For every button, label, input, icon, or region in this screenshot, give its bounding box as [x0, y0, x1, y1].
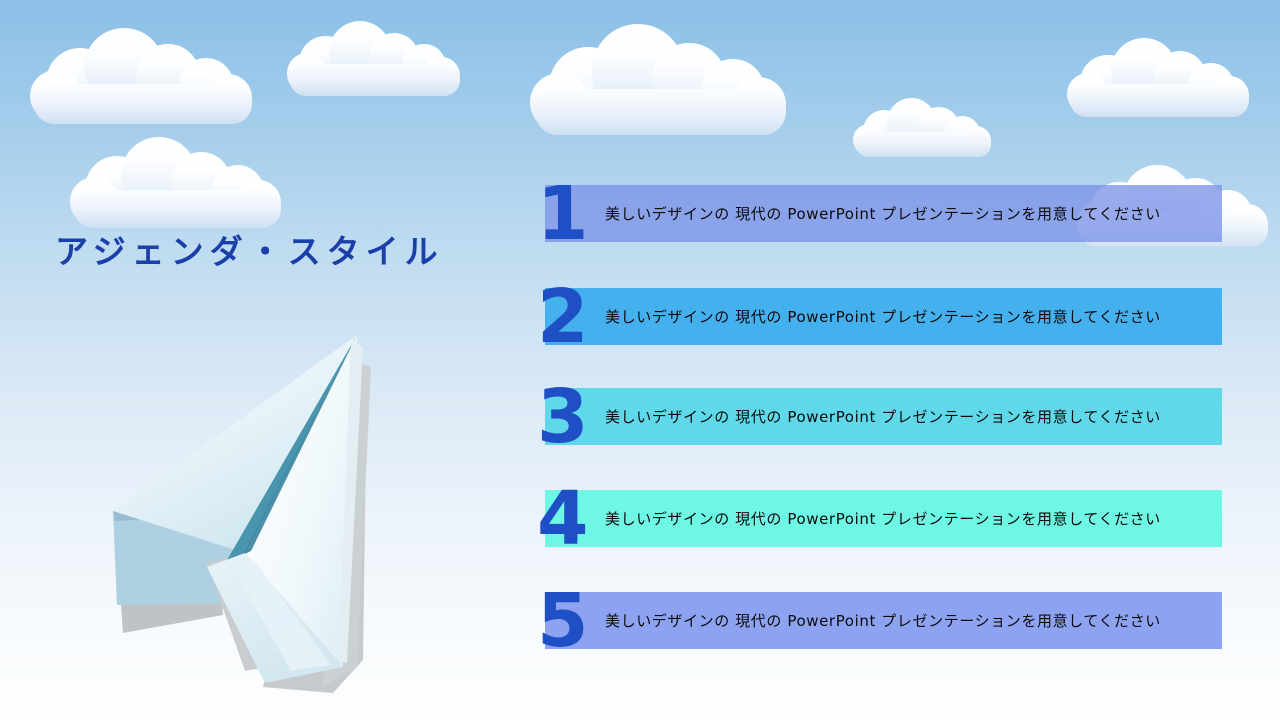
- agenda-item-number: 5: [537, 584, 587, 658]
- agenda-item-text: 美しいデザインの 現代の PowerPoint プレゼンテーションを用意してくだ…: [605, 490, 1161, 547]
- agenda-item-number: 1: [537, 177, 587, 251]
- agenda-item-text: 美しいデザインの 現代の PowerPoint プレゼンテーションを用意してくだ…: [605, 288, 1161, 345]
- agenda-item-number: 3: [537, 380, 587, 454]
- agenda-item-3[interactable]: 3美しいデザインの 現代の PowerPoint プレゼンテーションを用意してく…: [545, 388, 1222, 445]
- agenda-item-number: 2: [537, 280, 587, 354]
- agenda-item-2[interactable]: 2美しいデザインの 現代の PowerPoint プレゼンテーションを用意してく…: [545, 288, 1222, 345]
- agenda-item-5[interactable]: 5美しいデザインの 現代の PowerPoint プレゼンテーションを用意してく…: [545, 592, 1222, 649]
- agenda-item-text: 美しいデザインの 現代の PowerPoint プレゼンテーションを用意してくだ…: [605, 185, 1161, 242]
- agenda-item-text: 美しいデザインの 現代の PowerPoint プレゼンテーションを用意してくだ…: [605, 592, 1161, 649]
- agenda-item-4[interactable]: 4美しいデザインの 現代の PowerPoint プレゼンテーションを用意してく…: [545, 490, 1222, 547]
- agenda-item-number: 4: [537, 482, 587, 556]
- slide-canvas: アジェンダ・スタイル: [0, 0, 1280, 720]
- agenda-list: 1美しいデザインの 現代の PowerPoint プレゼンテーションを用意してく…: [0, 0, 1280, 720]
- agenda-item-1[interactable]: 1美しいデザインの 現代の PowerPoint プレゼンテーションを用意してく…: [545, 185, 1222, 242]
- agenda-item-text: 美しいデザインの 現代の PowerPoint プレゼンテーションを用意してくだ…: [605, 388, 1161, 445]
